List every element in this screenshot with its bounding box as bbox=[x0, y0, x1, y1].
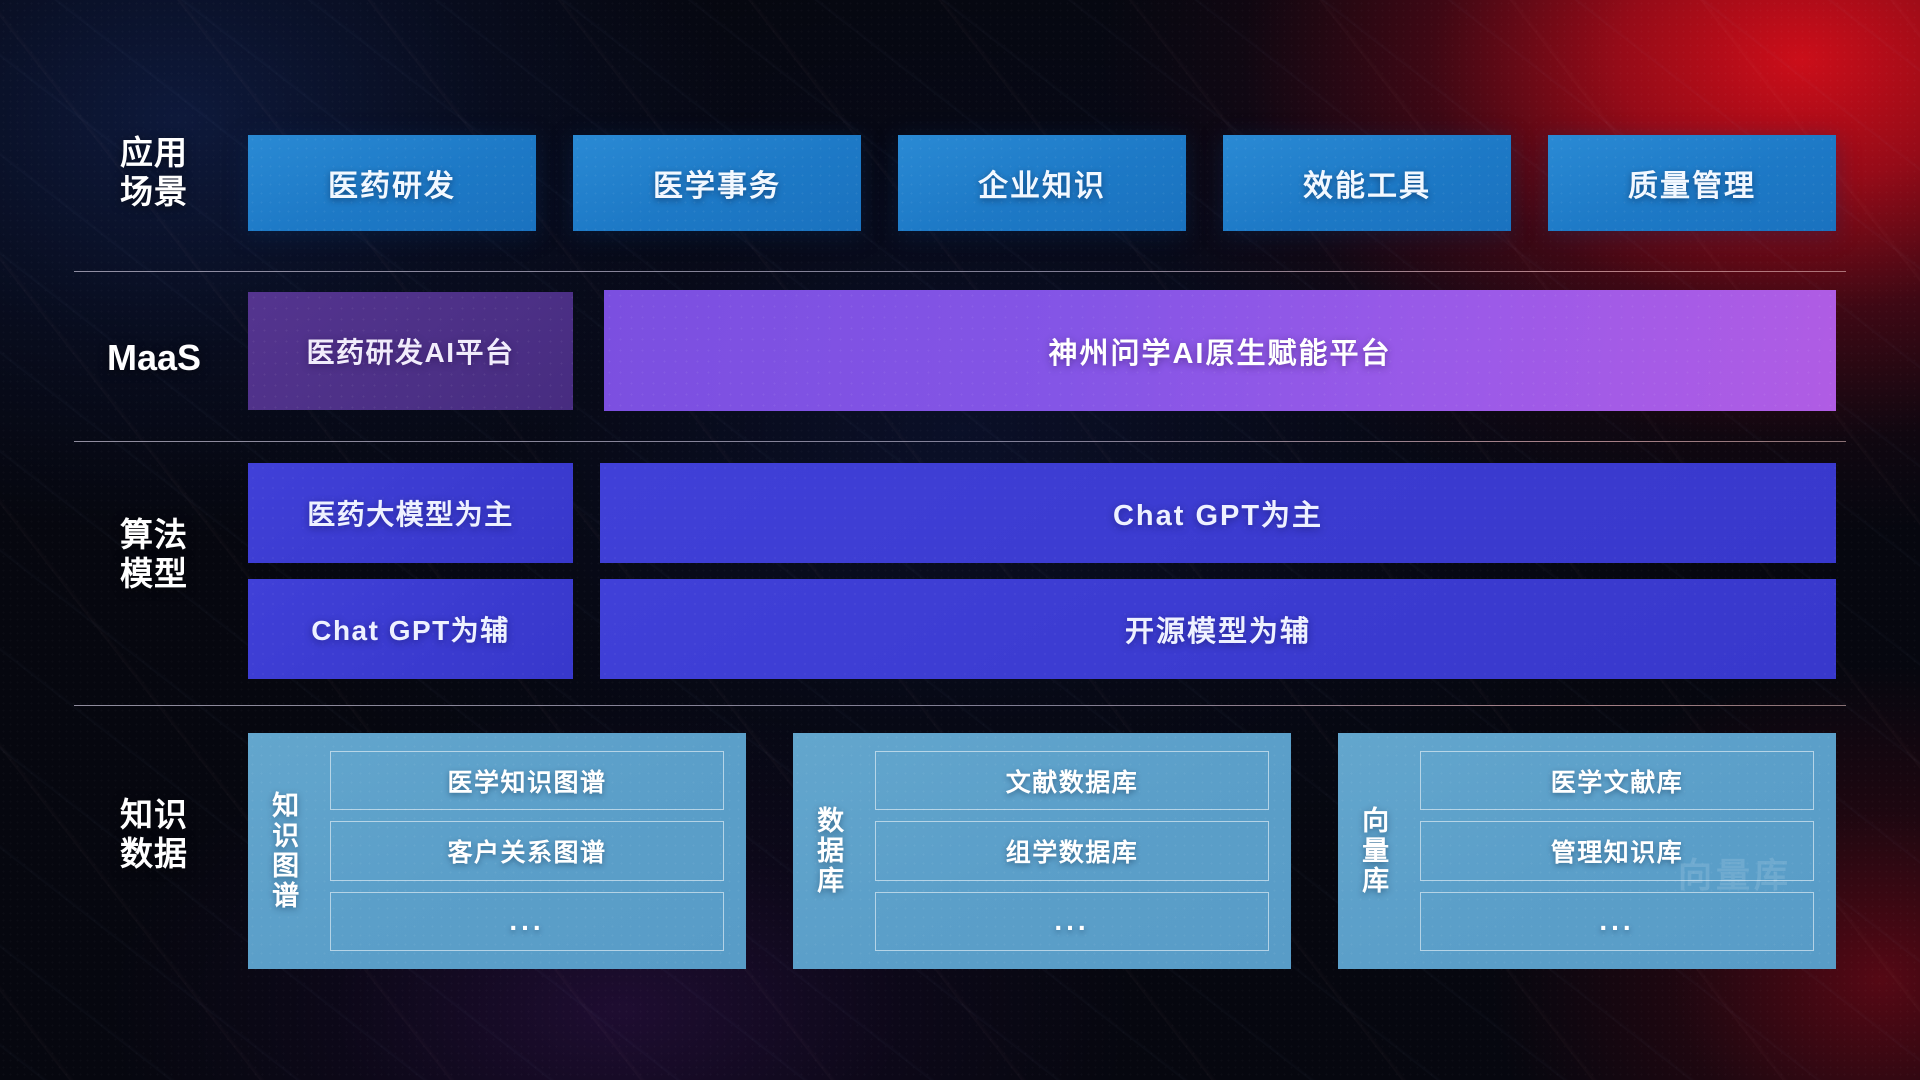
knowledge-group-graph[interactable]: 知识图谱 医学知识图谱 客户关系图谱 ... bbox=[248, 733, 746, 969]
app-scenario-box-2[interactable]: 医学事务 bbox=[573, 135, 861, 231]
knowledge-group-title-graph: 知识图谱 bbox=[248, 733, 318, 969]
knowledge-item[interactable]: 文献数据库 bbox=[875, 751, 1269, 810]
app-scenario-box-5[interactable]: 质量管理 bbox=[1548, 135, 1836, 231]
knowledge-item-list-vector: 医学文献库 管理知识库 ... bbox=[1408, 733, 1836, 969]
knowledge-group-title-vector: 向量库 bbox=[1338, 733, 1408, 969]
maas-platform-box-left[interactable]: 医药研发AI平台 bbox=[248, 292, 573, 410]
app-scenario-label-4: 效能工具 bbox=[1303, 161, 1431, 205]
algorithm-box-primary-general[interactable]: Chat GPT为主 bbox=[600, 463, 1836, 563]
divider-after-maas bbox=[74, 441, 1846, 442]
knowledge-item[interactable]: 医学知识图谱 bbox=[330, 751, 724, 810]
knowledge-item-list-database: 文献数据库 组学数据库 ... bbox=[863, 733, 1291, 969]
row-label-knowledge-data: 知识 数据 bbox=[74, 796, 234, 874]
algorithm-label-secondary-domain: Chat GPT为辅 bbox=[311, 609, 510, 649]
knowledge-item[interactable]: 组学数据库 bbox=[875, 821, 1269, 880]
architecture-diagram: 应用 场景 医药研发 医学事务 企业知识 效能工具 质量管理 MaaS 医药研发… bbox=[0, 0, 1920, 1080]
algorithm-label-primary-general: Chat GPT为主 bbox=[1113, 492, 1323, 534]
algorithm-box-secondary-general[interactable]: 开源模型为辅 bbox=[600, 579, 1836, 679]
divider-after-algorithm-model bbox=[74, 705, 1846, 706]
knowledge-group-vector[interactable]: 向量库 向量库 医学文献库 管理知识库 ... bbox=[1338, 733, 1836, 969]
knowledge-group-database[interactable]: 数据库 文献数据库 组学数据库 ... bbox=[793, 733, 1291, 969]
row-label-application-scenarios: 应用 场景 bbox=[74, 134, 234, 212]
knowledge-item[interactable]: 管理知识库 bbox=[1420, 821, 1814, 880]
algorithm-box-secondary-domain[interactable]: Chat GPT为辅 bbox=[248, 579, 573, 679]
divider-after-application-scenarios bbox=[74, 271, 1846, 272]
knowledge-group-title-database: 数据库 bbox=[793, 733, 863, 969]
maas-platform-box-right[interactable]: 神州问学AI原生赋能平台 bbox=[604, 290, 1836, 411]
app-scenario-label-1: 医药研发 bbox=[328, 161, 456, 205]
row-label-algorithm-model: 算法 模型 bbox=[74, 516, 234, 594]
app-scenario-box-4[interactable]: 效能工具 bbox=[1223, 135, 1511, 231]
app-scenario-label-2: 医学事务 bbox=[653, 161, 781, 205]
app-scenario-box-1[interactable]: 医药研发 bbox=[248, 135, 536, 231]
knowledge-item-more[interactable]: ... bbox=[1420, 892, 1814, 951]
knowledge-item-list-graph: 医学知识图谱 客户关系图谱 ... bbox=[318, 733, 746, 969]
knowledge-item[interactable]: 医学文献库 bbox=[1420, 751, 1814, 810]
knowledge-item-more[interactable]: ... bbox=[875, 892, 1269, 951]
row-label-maas: MaaS bbox=[74, 337, 234, 379]
slide-canvas: 应用 场景 医药研发 医学事务 企业知识 效能工具 质量管理 MaaS 医药研发… bbox=[0, 0, 1920, 1080]
algorithm-label-primary-domain: 医药大模型为主 bbox=[307, 493, 514, 533]
app-scenario-box-3[interactable]: 企业知识 bbox=[898, 135, 1186, 231]
maas-platform-label-left: 医药研发AI平台 bbox=[306, 331, 514, 371]
app-scenario-label-5: 质量管理 bbox=[1628, 161, 1756, 205]
maas-platform-label-right: 神州问学AI原生赋能平台 bbox=[1048, 330, 1391, 372]
algorithm-label-secondary-general: 开源模型为辅 bbox=[1125, 608, 1311, 650]
knowledge-item-more[interactable]: ... bbox=[330, 892, 724, 951]
algorithm-box-primary-domain[interactable]: 医药大模型为主 bbox=[248, 463, 573, 563]
app-scenario-label-3: 企业知识 bbox=[978, 161, 1106, 205]
knowledge-item[interactable]: 客户关系图谱 bbox=[330, 821, 724, 880]
